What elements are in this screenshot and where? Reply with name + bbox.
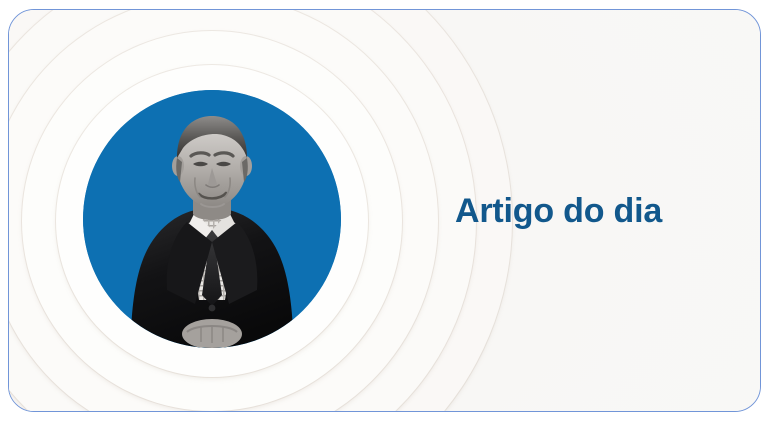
portrait-illustration <box>83 90 341 348</box>
avatar-disc <box>83 90 341 348</box>
page-title: Artigo do dia <box>455 194 662 228</box>
title-area: Artigo do dia <box>439 10 739 411</box>
article-card[interactable]: Artigo do dia <box>8 9 761 412</box>
avatar <box>83 90 341 348</box>
screenshot-canvas: Artigo do dia <box>0 0 770 425</box>
